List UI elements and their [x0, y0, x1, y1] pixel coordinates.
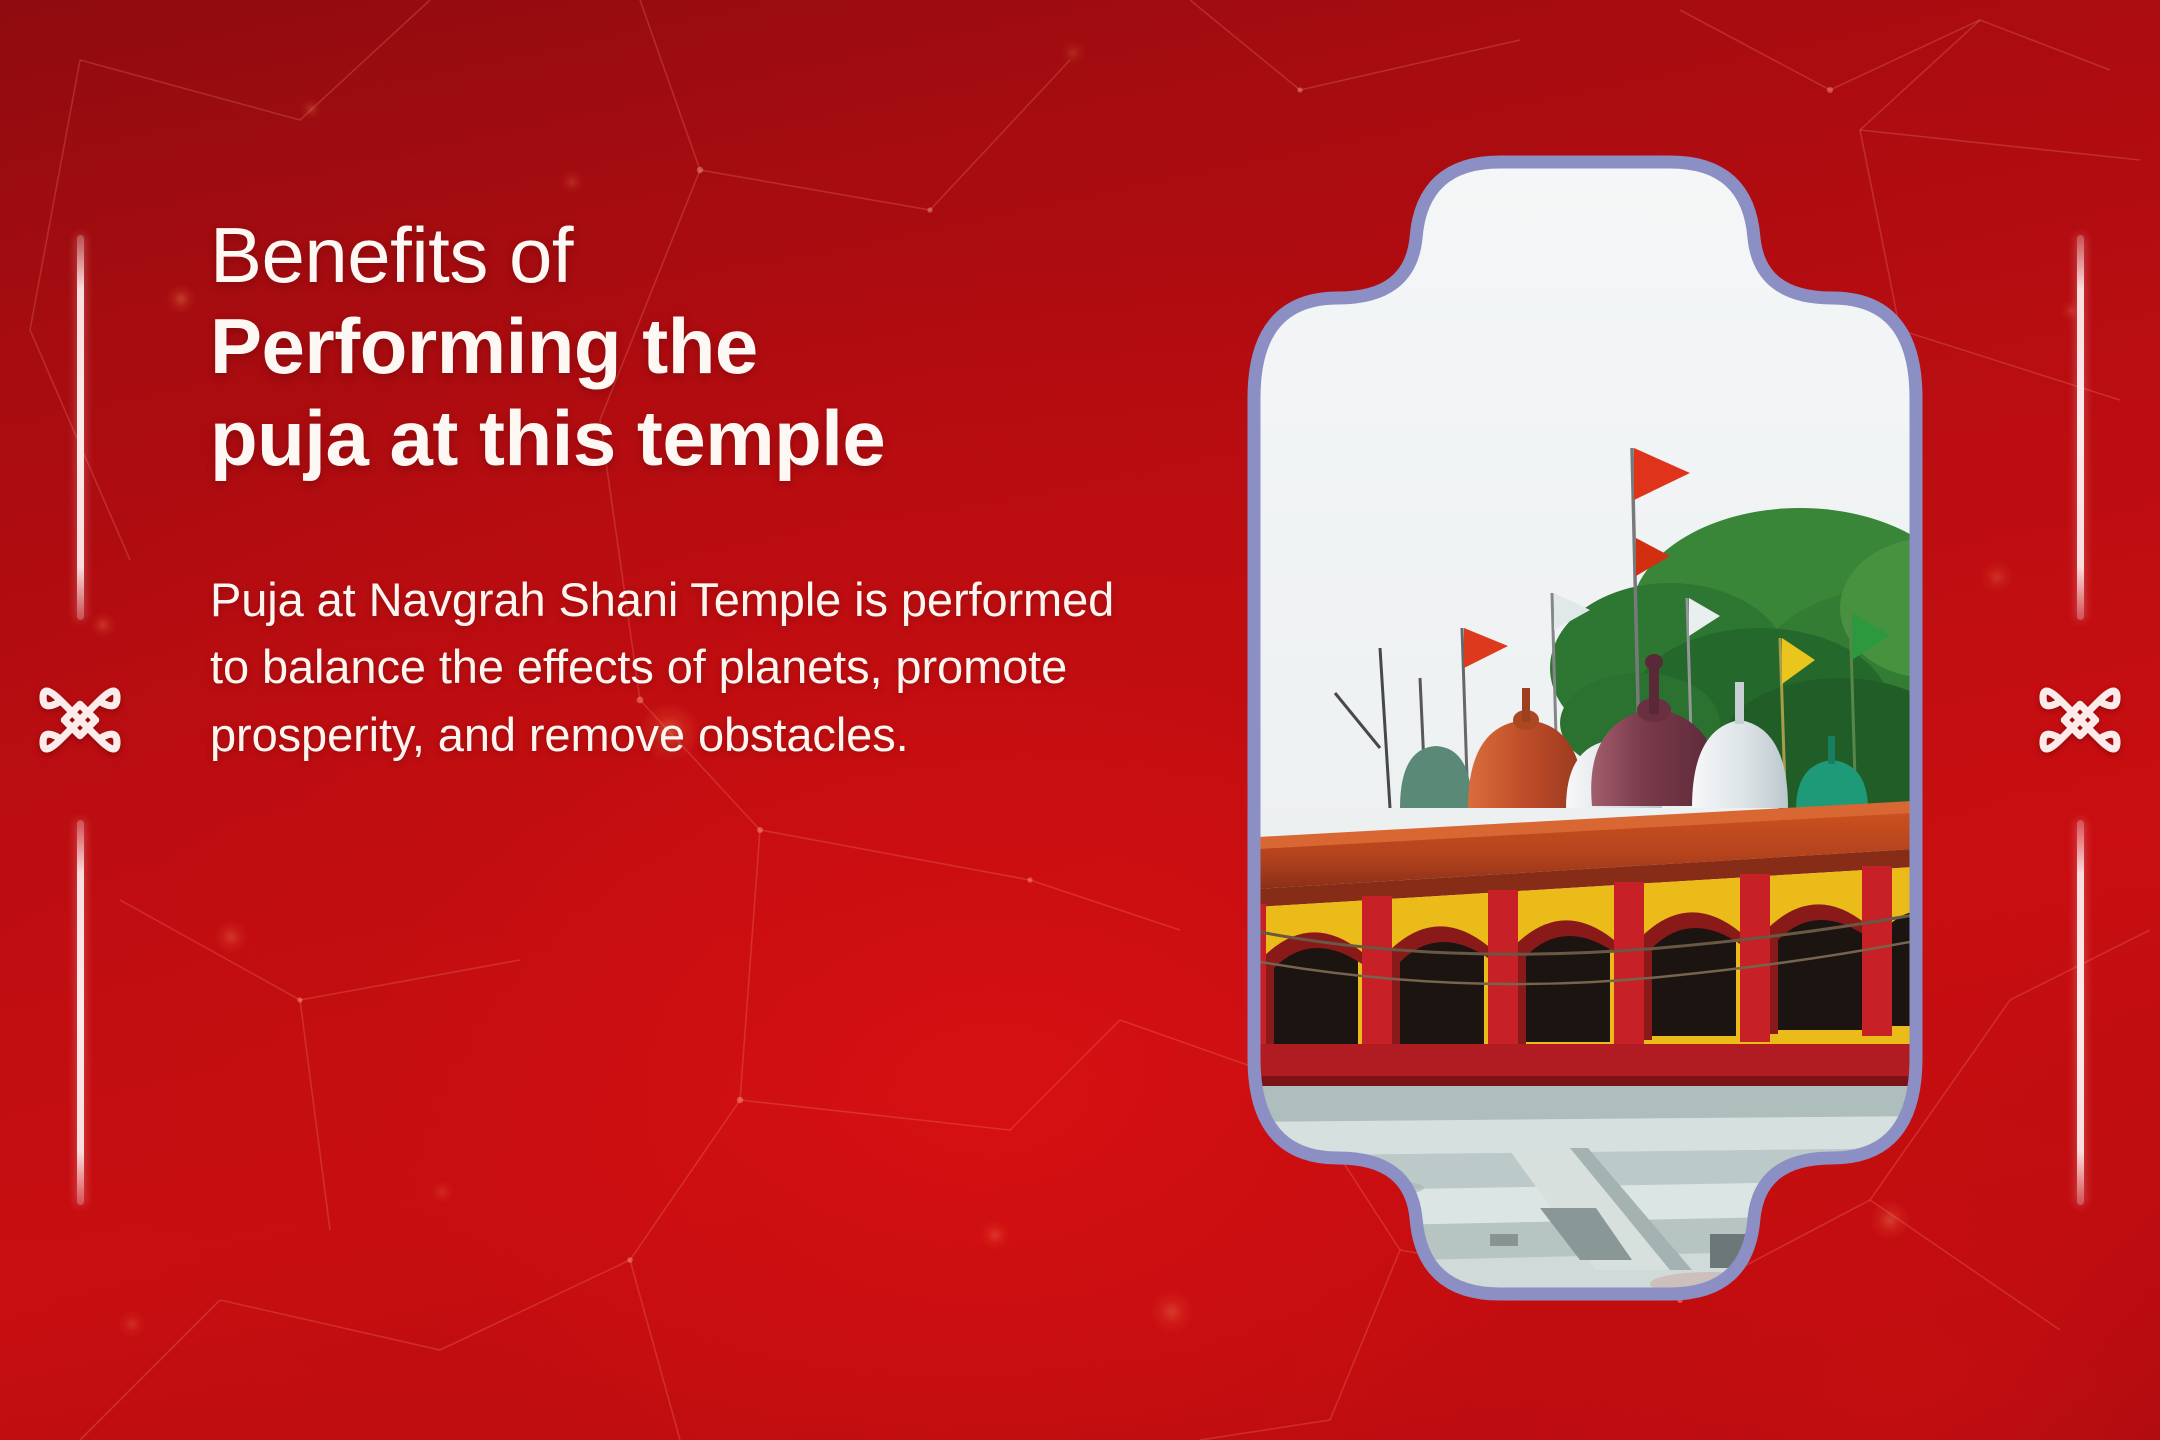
headline-line-1: Benefits of	[210, 210, 1210, 301]
headline-line-2: Performing the	[210, 301, 1210, 392]
right-ornament-rail	[2000, 0, 2160, 1440]
temple-photo-frame	[1240, 148, 1930, 1308]
left-ornament-rail	[0, 0, 160, 1440]
page-title: Benefits of Performing the puja at this …	[210, 210, 1210, 484]
headline-line-3: puja at this temple	[210, 393, 1210, 484]
slide-canvas: Benefits of Performing the puja at this …	[0, 0, 2160, 1440]
ornament-line-top	[2077, 235, 2084, 620]
temple-photo	[1240, 148, 1930, 1308]
text-column: Benefits of Performing the puja at this …	[210, 210, 1210, 769]
body-paragraph: Puja at Navgrah Shani Temple is performe…	[210, 566, 1150, 769]
ornament-line-bottom	[2077, 820, 2084, 1205]
ornament-line-top	[77, 235, 84, 620]
endless-knot-icon	[2024, 664, 2136, 776]
ornament-line-bottom	[77, 820, 84, 1205]
endless-knot-icon	[24, 664, 136, 776]
